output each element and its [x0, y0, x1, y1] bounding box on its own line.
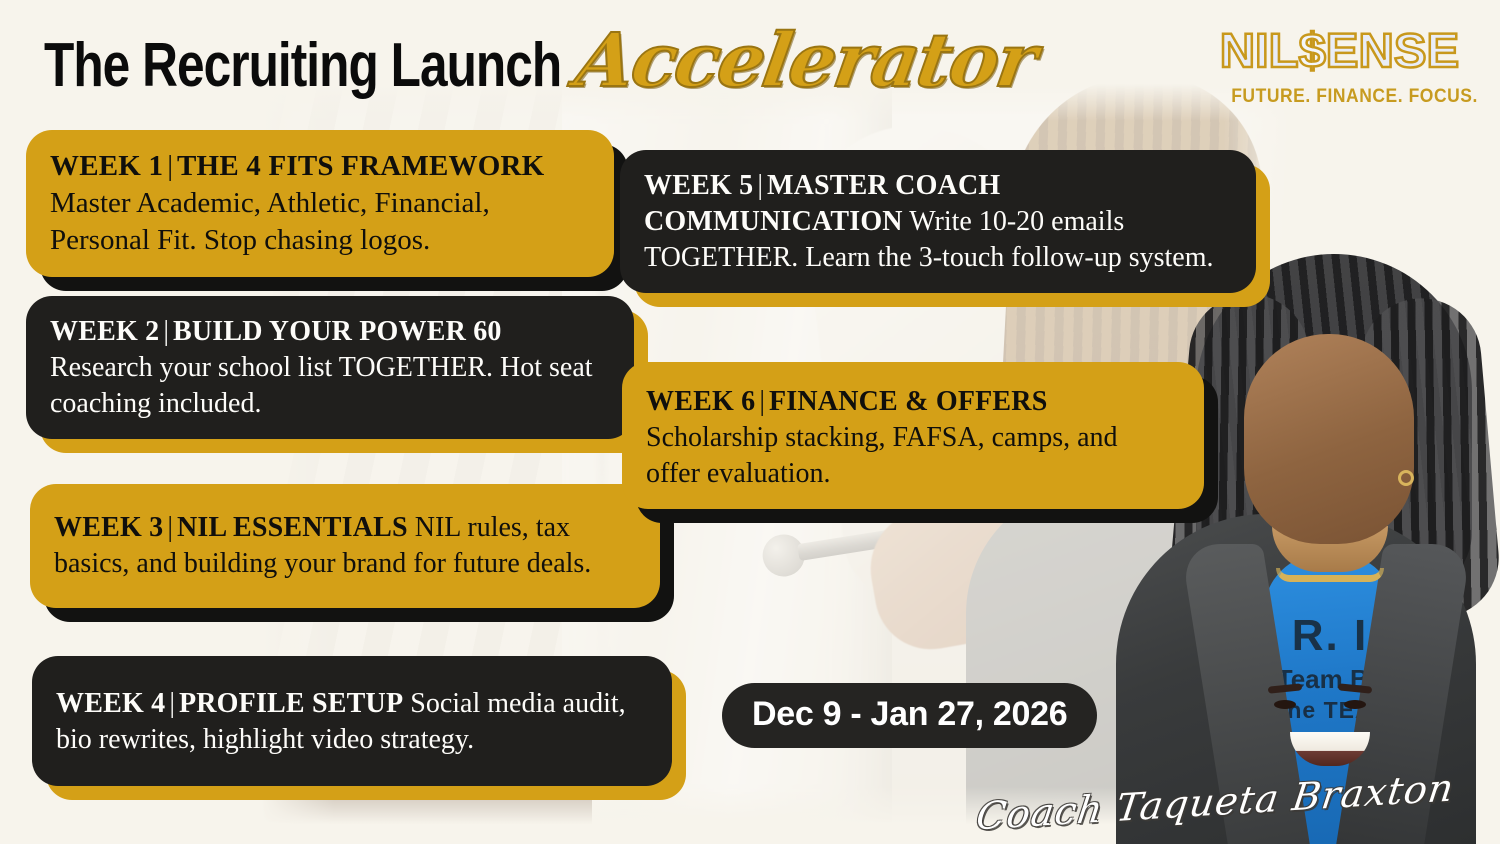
- portrait-smile: [1290, 732, 1370, 766]
- date-badge: Dec 9 - Jan 27, 2026: [722, 683, 1097, 748]
- week-card-3: WEEK 3|NIL ESSENTIALS NIL rules, tax bas…: [30, 484, 660, 608]
- logo-word-part1: NIL: [1220, 25, 1299, 78]
- week-card-3-label: WEEK 3: [54, 512, 163, 543]
- week-card-5-label: WEEK 5: [644, 170, 753, 201]
- week-card-3-separator: |: [163, 512, 177, 543]
- week-card-3-title: NIL ESSENTIALS: [177, 512, 408, 543]
- week-card-1-separator: |: [163, 150, 177, 182]
- week-card-2: WEEK 2|BUILD YOUR POWER 60 Research your…: [26, 296, 634, 439]
- week-card-4-label: WEEK 4: [56, 688, 165, 719]
- week-card-2-body: Research your school list TOGETHER. Hot …: [50, 352, 593, 419]
- dollar-sign-icon: $: [1299, 25, 1326, 78]
- week-card-6: WEEK 6|FINANCE & OFFERS Scholarship stac…: [622, 362, 1204, 509]
- week-card-5: WEEK 5|MASTER COACH COMMUNICATION Write …: [620, 150, 1256, 293]
- logo-word-part2: ENSE: [1326, 25, 1459, 78]
- week-card-6-label: WEEK 6: [646, 386, 755, 417]
- week-card-4: WEEK 4|PROFILE SETUP Social media audit,…: [32, 656, 672, 786]
- title-main-text: The Recruiting Launch: [44, 35, 561, 97]
- week-card-4-separator: |: [165, 688, 179, 719]
- page-title: The Recruiting Launch Accelerator: [44, 24, 1152, 98]
- week-card-4-title: PROFILE SETUP: [179, 688, 403, 719]
- week-card-5-separator: |: [753, 170, 767, 201]
- portrait-brow-right: [1338, 683, 1373, 694]
- week-card-6-body: Scholarship stacking, FAFSA, camps, and …: [646, 422, 1118, 489]
- portrait-earring: [1398, 470, 1414, 486]
- week-card-1: WEEK 1|THE 4 FITS FRAMEWORK Master Acade…: [26, 130, 614, 277]
- brand-logo: NIL$ENSE FUTURE. FINANCE. FOCUS.: [1222, 28, 1452, 108]
- logo-tagline: FUTURE. FINANCE. FOCUS.: [1231, 86, 1443, 108]
- logo-wordmark: NIL$ENSE: [1220, 28, 1455, 76]
- week-card-1-body: Master Academic, Athletic, Financial, Pe…: [50, 187, 490, 256]
- week-card-1-label: WEEK 1: [50, 150, 163, 182]
- week-card-6-title: FINANCE & OFFERS: [769, 386, 1048, 417]
- title-script-text: Accelerator: [571, 24, 1040, 98]
- poster-canvas: The Recruiting Launch Accelerator NIL$EN…: [0, 0, 1500, 844]
- week-card-1-title: THE 4 FITS FRAMEWORK: [177, 150, 544, 182]
- week-card-2-label: WEEK 2: [50, 316, 159, 347]
- week-card-2-title: BUILD YOUR POWER 60: [173, 316, 502, 347]
- portrait-eye-right: [1344, 700, 1366, 709]
- week-card-6-separator: |: [755, 386, 769, 417]
- week-card-2-separator: |: [159, 316, 173, 347]
